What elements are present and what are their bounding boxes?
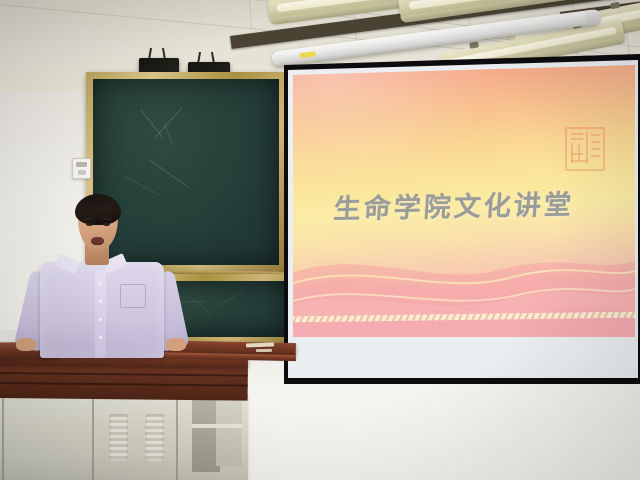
wall-outlet-plate[interactable] — [72, 158, 91, 179]
shirt-pocket — [120, 284, 146, 308]
blackboard — [86, 72, 286, 272]
chalk-piece — [256, 349, 272, 352]
classroom-photo-scene: 生命学院文化讲堂 — [0, 0, 640, 480]
blackboard-surface — [93, 79, 279, 265]
projection-screen: 生命学院文化讲堂 — [284, 54, 640, 384]
slide-highlight — [293, 65, 498, 190]
cabinet-shelf-rail — [192, 424, 242, 428]
slide-title: 生命学院文化讲堂 — [332, 183, 575, 227]
speaker-mouth — [91, 237, 104, 245]
roller-warning-label — [299, 51, 316, 58]
projected-slide: 生命学院文化讲堂 — [293, 65, 635, 337]
speaker-left-hand — [16, 338, 36, 351]
speaker-right-hand — [166, 338, 186, 351]
slide-wave-decoration — [293, 239, 635, 337]
speaker-shirt — [40, 262, 164, 358]
speaker-eye-right — [103, 223, 110, 226]
cabinet-vent-left — [109, 414, 128, 461]
speaker-eye-left — [86, 223, 93, 226]
cabinet-vent-right — [145, 414, 164, 461]
speaker-hair — [75, 194, 121, 225]
chinese-seal-stamp — [565, 127, 605, 171]
